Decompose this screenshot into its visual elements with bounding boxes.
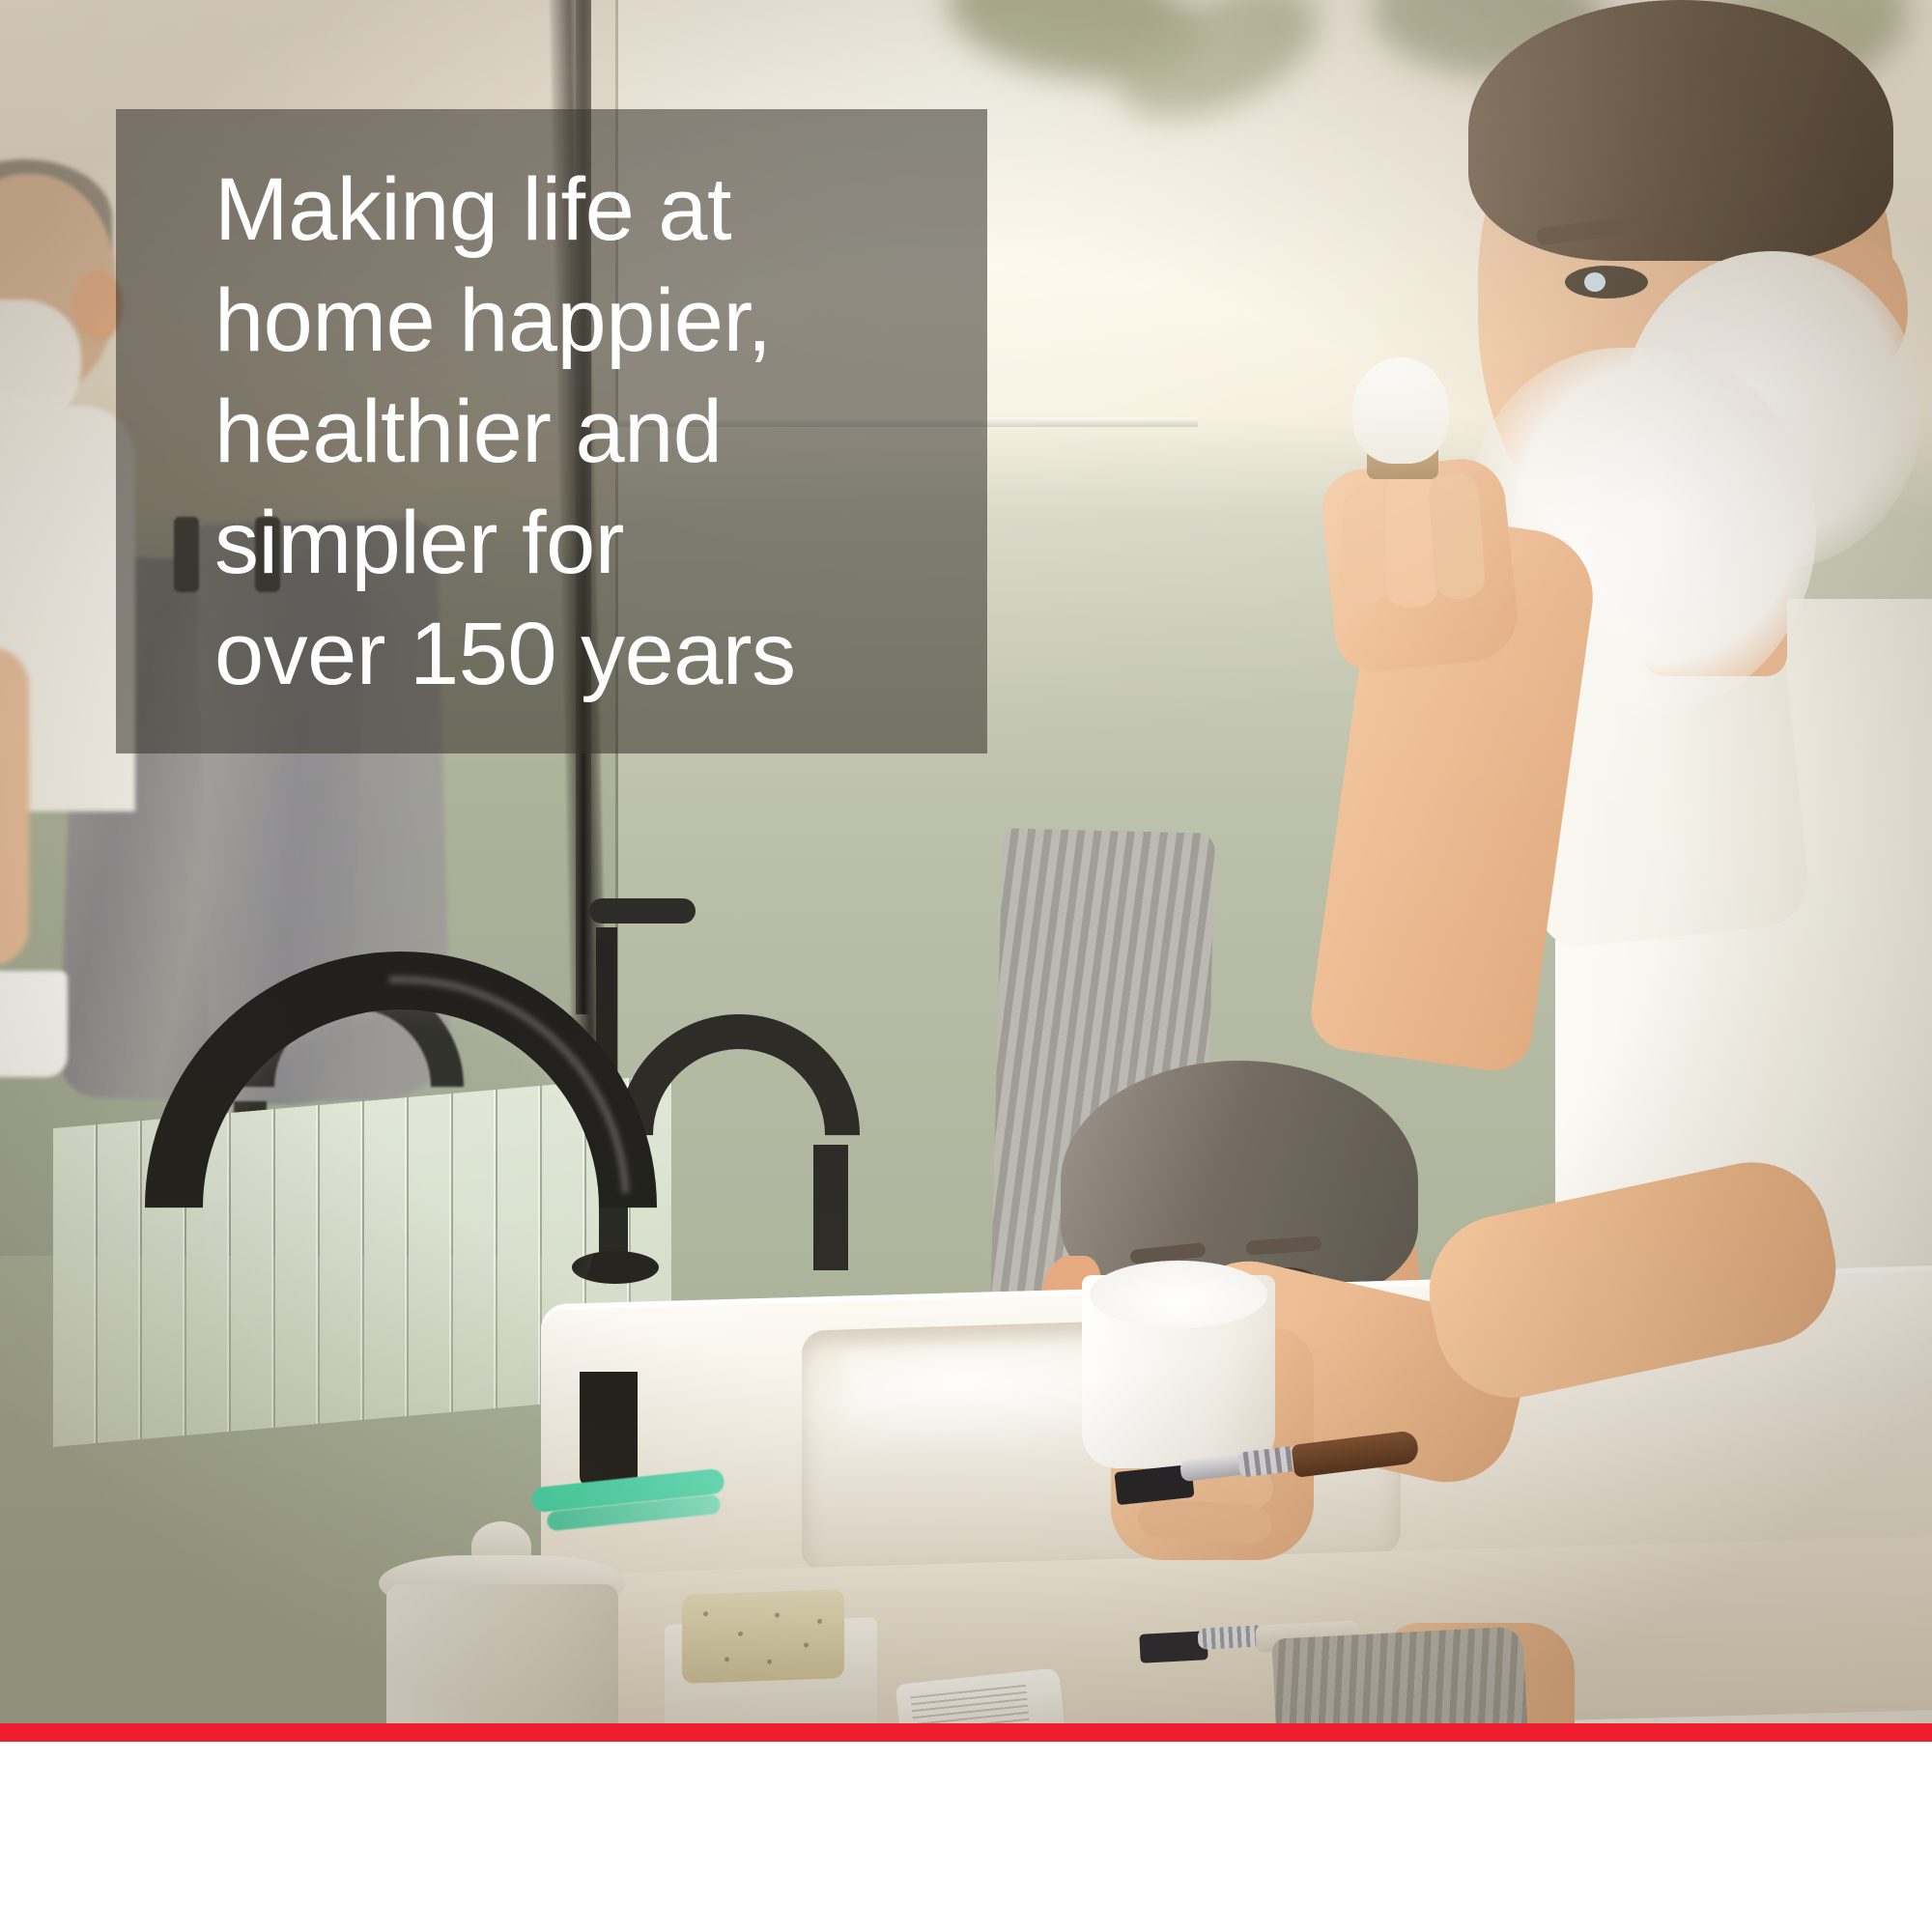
- main-faucet-spout: [580, 1372, 638, 1488]
- shaving-cream-in-cup: [1090, 1261, 1267, 1328]
- faucet-2-handle-top: [589, 898, 696, 923]
- mirror-shaving-cup: [0, 971, 68, 1077]
- footer-bar: American Standard: [0, 1742, 1932, 1932]
- faucet-2-leg: [813, 1145, 848, 1270]
- boy-eye: [1565, 266, 1648, 298]
- ceramic-canister: [386, 1584, 618, 1723]
- boy-eye-highlight: [1584, 272, 1605, 292]
- bar-of-soap: [682, 1589, 844, 1684]
- boy-hand-holding-brush: [1319, 455, 1522, 676]
- brand-accent-bar: [0, 1723, 1932, 1742]
- folded-towel: [1271, 1626, 1529, 1723]
- headline-text: Making life at home happier, healthier a…: [214, 155, 978, 710]
- boy-hair: [1468, 0, 1893, 261]
- advertisement-canvas: Making life at home happier, healthier a…: [0, 0, 1932, 1932]
- mirror-man-arm: [0, 647, 29, 966]
- shaving-brush-foam: [1352, 357, 1449, 464]
- hero-photo: Making life at home happier, healthier a…: [0, 0, 1932, 1723]
